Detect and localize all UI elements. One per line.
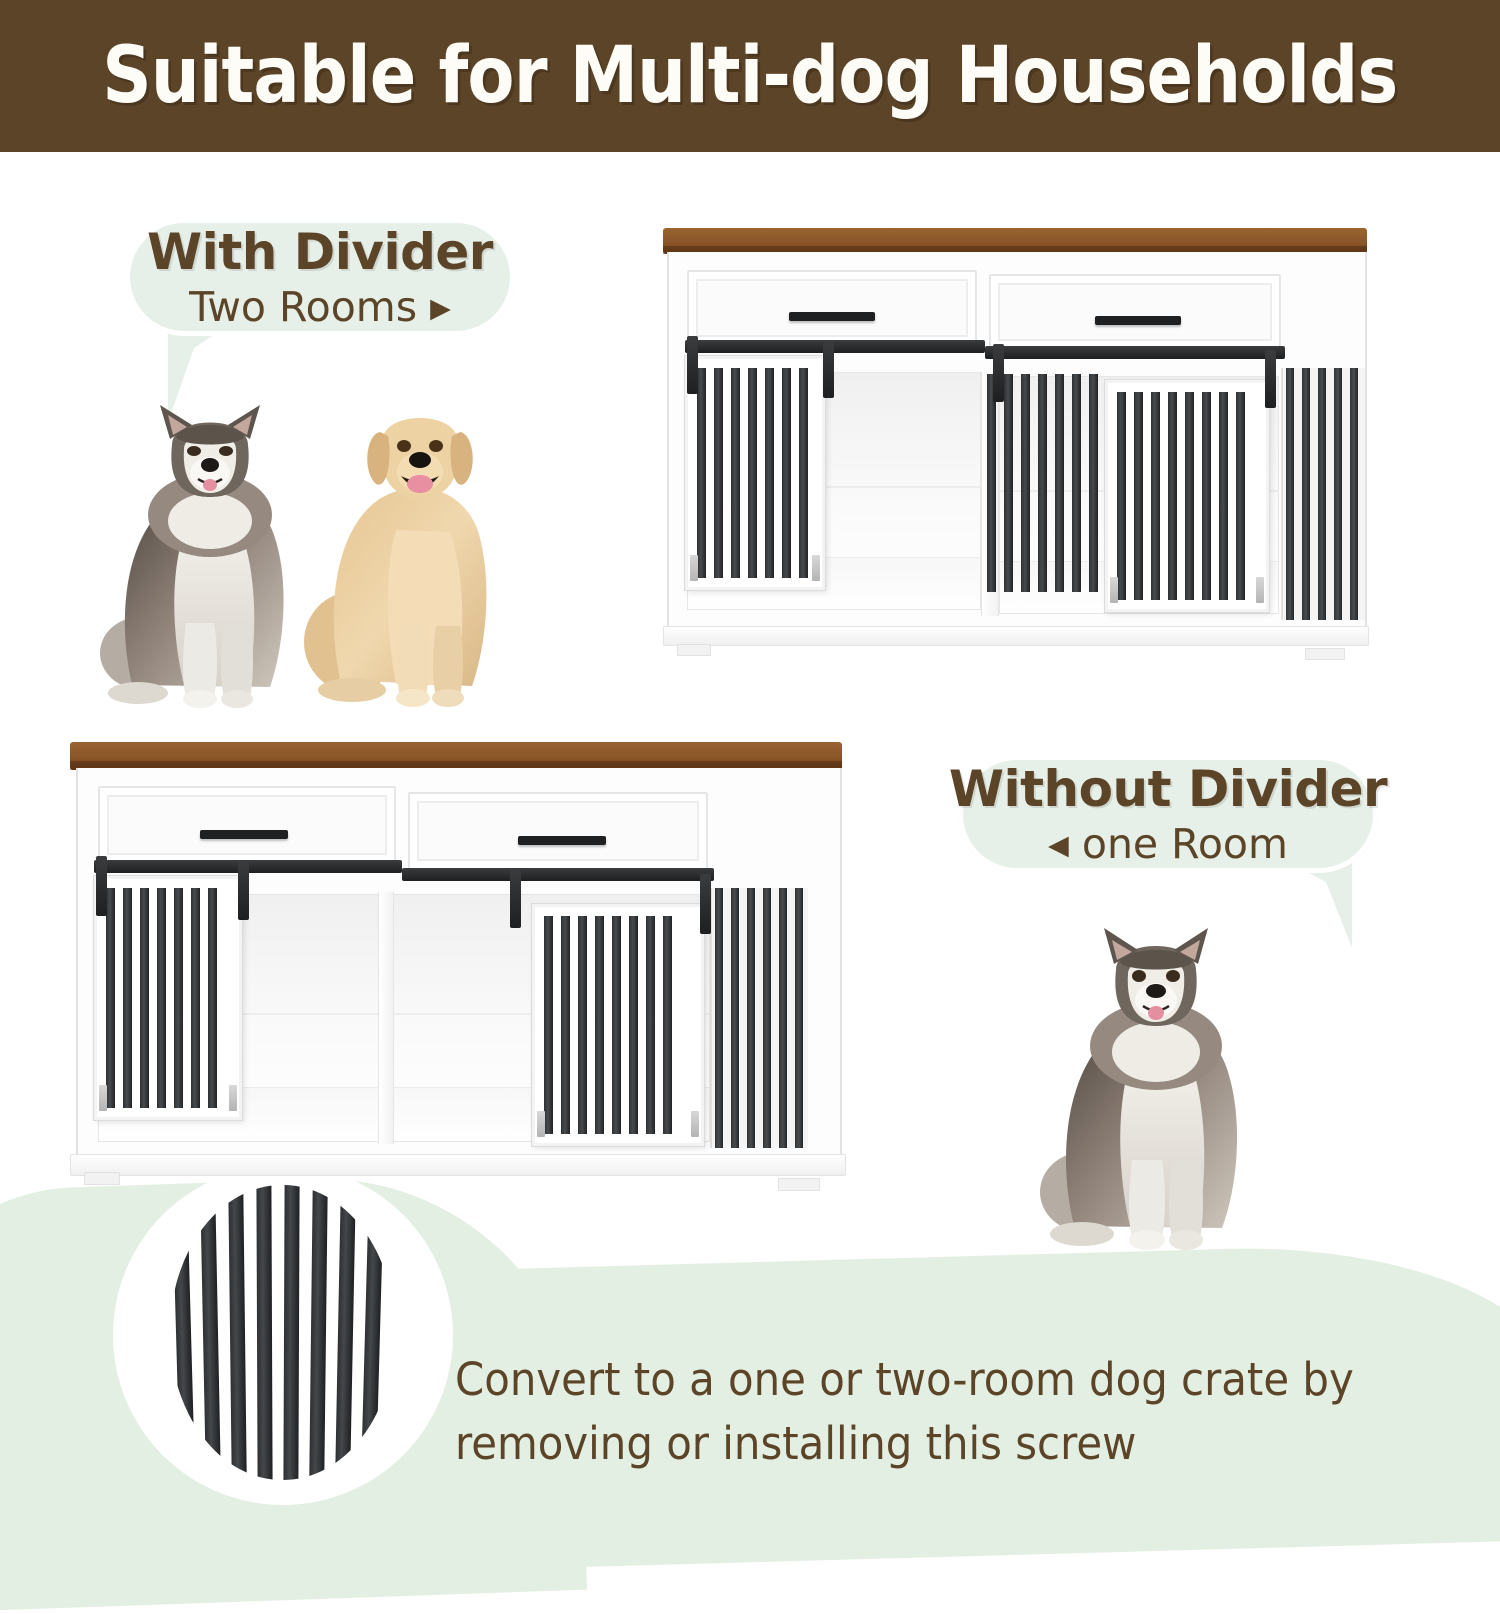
- crate-slat: [140, 888, 149, 1108]
- crate-drawer-left[interactable]: [98, 786, 396, 864]
- crate-slat: [1302, 368, 1310, 620]
- detail-slat: [200, 1185, 221, 1480]
- crate-slat: [1219, 392, 1228, 600]
- crate-slat: [715, 888, 723, 1148]
- rail-bracket-1: [96, 856, 107, 916]
- drawer-handle-right[interactable]: [518, 836, 606, 845]
- crate-slat: [1236, 392, 1245, 600]
- crate-slat: [1134, 392, 1143, 600]
- crate-drawer-left[interactable]: [687, 270, 977, 346]
- rail-bracket-4: [700, 874, 711, 934]
- sliding-door-right-slats: [1115, 392, 1259, 600]
- crate-slat: [1055, 374, 1064, 592]
- crate-slat: [799, 368, 808, 578]
- crate-slat: [1021, 374, 1030, 592]
- crate-slat: [208, 888, 217, 1108]
- crate-slat: [747, 888, 755, 1148]
- crate-slat: [595, 916, 604, 1134]
- crate-slat: [765, 368, 774, 578]
- crate-slat: [763, 888, 771, 1148]
- crate-side-panel: [1281, 368, 1367, 620]
- crate-plinth: [663, 626, 1369, 646]
- door-hinge: [1256, 577, 1264, 603]
- sliding-door-left-slats: [104, 888, 232, 1108]
- dog-husky-solo: [1038, 908, 1260, 1258]
- sliding-door-left-slats: [695, 368, 815, 578]
- crate-slat: [697, 368, 706, 578]
- crate-slat: [1117, 392, 1126, 600]
- callout-with-divider-subtitle-text: Two Rooms: [189, 283, 417, 331]
- crate-slat: [714, 368, 723, 578]
- crate-slat: [987, 374, 996, 592]
- callout-without-divider-subtitle-text: one Room: [1082, 820, 1288, 868]
- crate-slat: [782, 368, 791, 578]
- side-panel-slats: [712, 888, 808, 1148]
- callout-without-divider-subtitle: ◀ one Room: [1048, 820, 1288, 868]
- sliding-door-right[interactable]: [1105, 380, 1269, 612]
- crate-slat: [748, 368, 757, 578]
- crate-foot: [778, 1178, 820, 1191]
- sliding-door-left[interactable]: [94, 876, 242, 1120]
- door-hinge: [691, 1111, 699, 1137]
- crate-slat: [1318, 368, 1326, 620]
- door-hinge: [1110, 577, 1118, 603]
- rail-bracket-1: [687, 336, 698, 394]
- crate-plinth: [70, 1154, 846, 1176]
- crate-slat: [612, 916, 621, 1134]
- callout-with-divider-title: With Divider: [147, 223, 493, 281]
- crate-corner-post: [378, 892, 394, 1144]
- crate-slat: [561, 916, 570, 1134]
- door-hinge: [690, 555, 698, 581]
- rail-bracket-2: [238, 860, 249, 920]
- crate-foot: [1305, 648, 1345, 660]
- drawer-handle-left[interactable]: [789, 312, 875, 321]
- crate-slat: [646, 916, 655, 1134]
- crate-slat: [578, 916, 587, 1134]
- callout-with-divider-subtitle: Two Rooms ▶: [189, 283, 451, 331]
- dog-labrador-right: [300, 380, 510, 715]
- crate-slat: [1072, 374, 1081, 592]
- crate-slat: [1350, 368, 1358, 620]
- sliding-door-left[interactable]: [685, 356, 825, 590]
- crate-slat: [1151, 392, 1160, 600]
- rail-bracket-2: [823, 340, 834, 398]
- door-hinge: [99, 1085, 107, 1111]
- rail-bracket-4: [1265, 350, 1276, 408]
- crate-slat: [544, 916, 553, 1134]
- crate-slat: [1185, 392, 1194, 600]
- crate-slat: [157, 888, 166, 1108]
- crate-slat: [174, 888, 183, 1108]
- sliding-door-right[interactable]: [532, 904, 704, 1146]
- detail-slat: [335, 1185, 356, 1480]
- arrow-right-icon: ▶: [430, 293, 451, 324]
- crate-slat: [779, 888, 787, 1148]
- crate-slat: [731, 888, 739, 1148]
- callout-without-divider: Without Divider ◀ one Room: [958, 755, 1378, 873]
- crate-slat: [629, 916, 638, 1134]
- page-title: Suitable for Multi-dog Households: [102, 31, 1397, 121]
- callout-without-divider-title: Without Divider: [949, 760, 1387, 818]
- crate-wood-top: [70, 742, 842, 770]
- door-hinge: [229, 1085, 237, 1111]
- crate-slat: [1286, 368, 1294, 620]
- crate-slat: [1202, 392, 1211, 600]
- crate-foot: [84, 1172, 120, 1185]
- detail-slat: [283, 1185, 299, 1480]
- dog-husky-left: [98, 385, 308, 715]
- crate-slat: [123, 888, 132, 1108]
- crate-slat: [795, 888, 803, 1148]
- barn-door-rail-right: [985, 346, 1285, 359]
- door-hinge: [812, 555, 820, 581]
- barn-door-rail-right: [402, 868, 714, 881]
- side-panel-slats: [1283, 368, 1367, 620]
- caption-line-2: removing or installing this screw: [455, 1412, 1366, 1476]
- crate-slat: [191, 888, 200, 1108]
- rail-bracket-3: [993, 344, 1004, 402]
- crate-slat: [106, 888, 115, 1108]
- crate-slat: [1004, 374, 1013, 592]
- crate-foot: [677, 644, 711, 656]
- caption-line-1: Convert to a one or two-room dog crate b…: [455, 1348, 1366, 1412]
- sliding-door-right-slats: [542, 916, 694, 1134]
- crate-slat: [1089, 374, 1098, 592]
- crate-drawer-right[interactable]: [408, 792, 708, 870]
- crate-slat: [1334, 368, 1342, 620]
- crate-drawer-right[interactable]: [989, 274, 1281, 350]
- drawer-handle-left[interactable]: [200, 830, 288, 839]
- slat-closeup-detail: [170, 1185, 395, 1480]
- detail-slat: [309, 1185, 328, 1480]
- barn-door-rail-left: [685, 340, 985, 353]
- crate-slat: [1168, 392, 1177, 600]
- crate-without-divider: [62, 742, 852, 1192]
- detail-slat: [228, 1185, 247, 1480]
- callout-tail-without-divider: [1288, 862, 1352, 948]
- callout-with-divider: With Divider Two Rooms ▶: [125, 218, 515, 336]
- rail-bracket-3: [510, 868, 521, 928]
- arrow-left-icon: ◀: [1048, 830, 1069, 861]
- header-banner: Suitable for Multi-dog Households: [0, 0, 1500, 152]
- caption-text: Convert to a one or two-room dog crate b…: [455, 1348, 1366, 1476]
- crate-slat: [731, 368, 740, 578]
- drawer-handle-right[interactable]: [1095, 316, 1181, 325]
- inner-slat-wall-slats: [985, 374, 1107, 592]
- detail-slat: [256, 1185, 272, 1480]
- crate-slat: [663, 916, 672, 1134]
- crate-side-panel: [710, 888, 808, 1148]
- crate-with-divider: [655, 228, 1375, 658]
- inner-slat-wall: [985, 374, 1107, 592]
- crate-wood-top: [663, 228, 1367, 254]
- door-hinge: [537, 1111, 545, 1137]
- crate-slat: [1038, 374, 1047, 592]
